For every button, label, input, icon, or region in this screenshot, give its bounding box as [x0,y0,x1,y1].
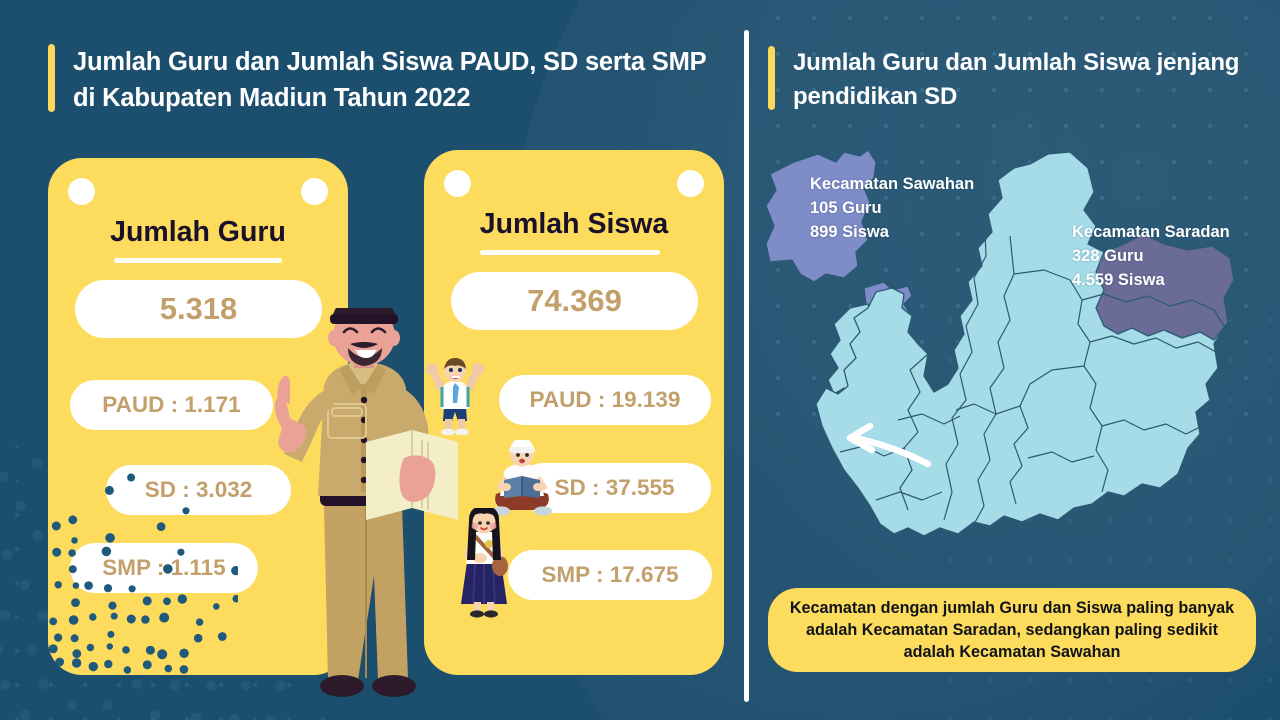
student-girl-with-bag-illustration [455,508,513,620]
siswa-paud-pill: PAUD : 19.139 [499,375,711,425]
card-title-underline [114,258,282,263]
map-label-saradan: Kecamatan Saradan 328 Guru 4.559 Siswa [1072,220,1230,292]
map-label-sawahan: Kecamatan Sawahan 105 Guru 899 Siswa [810,172,974,244]
right-heading-text: Jumlah Guru dan Jumlah Siswa jenjang pen… [793,46,1243,114]
card-siswa-title: Jumlah Siswa [424,208,724,241]
right-panel-heading: Jumlah Guru dan Jumlah Siswa jenjang pen… [768,46,1243,114]
map-label-sawahan-guru: 105 Guru [810,196,974,220]
siswa-smp-pill: SMP : 17.675 [508,550,712,600]
siswa-total-pill: 74.369 [451,272,698,330]
conclusion-note-text: Kecamatan dengan jumlah Guru dan Siswa p… [786,597,1238,663]
card-punch-hole-left [68,178,95,205]
card-punch-hole-right [677,170,704,197]
heading-accent-bar [48,44,55,112]
card-punch-hole-left [444,170,471,197]
card-title-underline [480,250,660,255]
map-label-saradan-guru: 328 Guru [1072,244,1230,268]
heading-accent-bar [768,46,775,110]
left-panel-heading: Jumlah Guru dan Jumlah Siswa PAUD, SD se… [48,44,713,116]
guru-smp-pill: SMP : 1.115 [70,543,258,593]
map-label-sawahan-name: Kecamatan Sawahan [810,172,974,196]
map-label-saradan-name: Kecamatan Saradan [1072,220,1230,244]
left-heading-text: Jumlah Guru dan Jumlah Siswa PAUD, SD se… [73,44,713,116]
card-punch-hole-right [301,178,328,205]
student-boy-cheering-illustration [424,357,486,435]
card-guru-title: Jumlah Guru [48,216,348,249]
map-label-sawahan-siswa: 899 Siswa [810,220,974,244]
conclusion-note: Kecamatan dengan jumlah Guru dan Siswa p… [768,588,1256,672]
panel-divider [744,30,749,702]
infographic-canvas: Jumlah Guru dan Jumlah Siswa PAUD, SD se… [0,0,1280,720]
map-label-saradan-siswa: 4.559 Siswa [1072,268,1230,292]
guru-paud-pill: PAUD : 1.171 [70,380,273,430]
